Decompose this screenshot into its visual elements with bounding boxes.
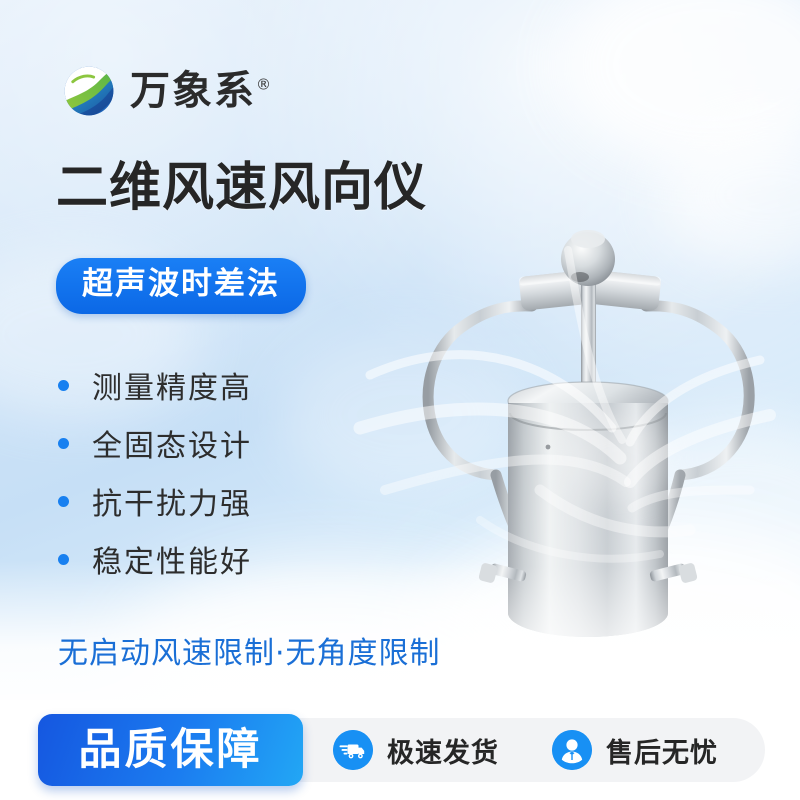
feature-item: 稳定性能好 <box>58 532 252 586</box>
tagline: 无启动风速限制·无角度限制 <box>58 628 441 672</box>
bullet-dot-icon <box>58 380 69 391</box>
bottom-bar: 品质保障 极速发货 <box>0 700 800 800</box>
feature-label: 抗干扰力强 <box>92 479 252 523</box>
bullet-dot-icon <box>58 496 69 507</box>
hub-port <box>571 272 589 282</box>
product-image <box>380 215 800 665</box>
hub-top-cap <box>571 230 605 248</box>
quality-guarantee-button[interactable]: 品质保障 <box>38 714 303 786</box>
feature-item: 测量精度高 <box>58 358 252 412</box>
feature-label: 全固态设计 <box>92 421 252 465</box>
service-label-shipping: 极速发货 <box>387 731 499 770</box>
feature-label: 稳定性能好 <box>92 537 252 581</box>
customer-service-icon <box>552 730 592 770</box>
feature-list: 测量精度高 全固态设计 抗干扰力强 稳定性能好 <box>58 358 252 590</box>
brand-logo: 万象系® <box>60 62 273 120</box>
method-badge: 超声波时差法 <box>56 258 306 314</box>
service-item-shipping[interactable]: 极速发货 <box>333 730 499 770</box>
brand-name-text: 万象系 <box>130 68 256 114</box>
body-vent-hole <box>546 445 551 450</box>
feature-item: 抗干扰力强 <box>58 474 252 528</box>
body-fade <box>508 403 668 637</box>
service-label-aftersales: 售后无忧 <box>606 731 718 770</box>
delivery-truck-icon <box>333 730 373 770</box>
service-item-aftersales[interactable]: 售后无忧 <box>552 730 718 770</box>
quality-guarantee-label: 品质保障 <box>79 729 263 772</box>
feature-item: 全固态设计 <box>58 416 252 470</box>
feature-label: 测量精度高 <box>92 363 252 407</box>
trademark-symbol: ® <box>256 76 273 94</box>
product-poster: 万象系® 二维风速风向仪 超声波时差法 测量精度高 全固态设计 抗干扰力强 稳定… <box>0 0 800 800</box>
bullet-dot-icon <box>58 554 69 565</box>
bullet-dot-icon <box>58 438 69 449</box>
globe-swirl-logo-icon <box>60 62 118 120</box>
page-title: 二维风速风向仪 <box>56 161 427 216</box>
brand-name: 万象系® <box>130 71 273 111</box>
